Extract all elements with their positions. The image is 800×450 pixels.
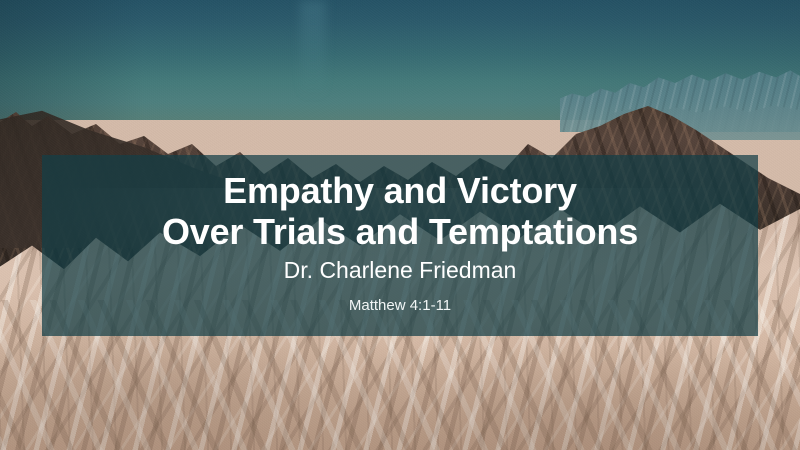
- slide-title-line-1: Empathy and Victory: [223, 171, 577, 212]
- slide-title-line-2: Over Trials and Temptations: [162, 212, 638, 253]
- scripture-reference: Matthew 4:1-11: [349, 296, 451, 316]
- sky-light-streak: [300, 0, 326, 100]
- title-overlay-band: Empathy and Victory Over Trials and Temp…: [42, 155, 758, 336]
- speaker-name: Dr. Charlene Friedman: [284, 256, 517, 285]
- title-slide: Empathy and Victory Over Trials and Temp…: [0, 0, 800, 450]
